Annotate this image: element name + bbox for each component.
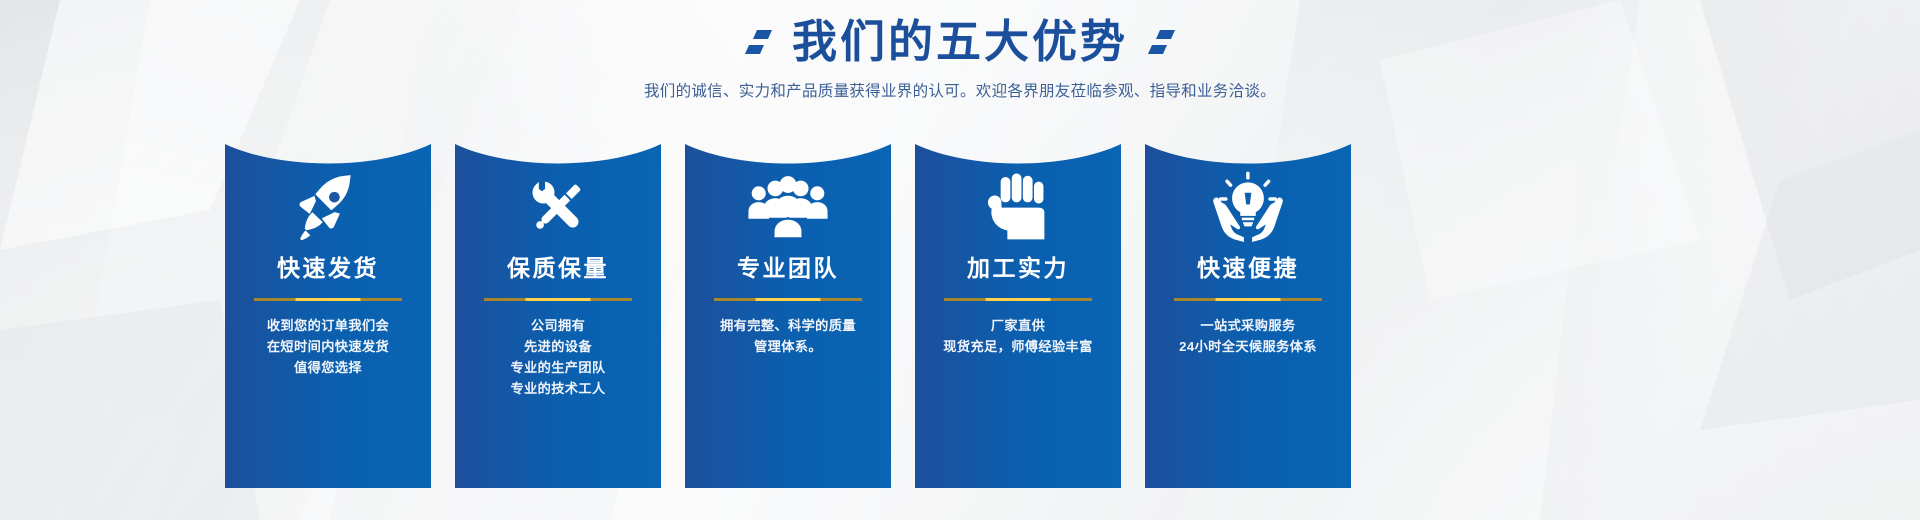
gold-divider <box>1174 298 1322 301</box>
card-title: 加工实力 <box>967 256 1069 281</box>
fist-icon <box>915 140 1121 258</box>
slanted-dashes-icon-right <box>1150 30 1173 54</box>
card-description: 公司拥有 先进的设备 专业的生产团队 专业的技术工人 <box>510 315 605 399</box>
desc-line: 厂家直供 <box>943 315 1092 336</box>
hands-lightbulb-icon <box>1145 140 1351 258</box>
advantage-card-5[interactable]: 快速便捷 一站式采购服务 24小时全天候服务体系 <box>1145 140 1351 488</box>
card-description: 收到您的订单我们会 在短时间内快速发货 值得您选择 <box>267 315 389 378</box>
desc-line: 管理体系。 <box>720 336 856 357</box>
advantage-card-2[interactable]: 保质保量 公司拥有 先进的设备 专业的生产团队 专业的技术工人 <box>455 140 661 488</box>
page-title: 我们的五大优势 <box>792 18 1128 66</box>
gold-divider <box>484 298 632 301</box>
wrench-screwdriver-icon <box>455 140 661 258</box>
card-title: 专业团队 <box>737 256 839 281</box>
desc-line: 专业的技术工人 <box>510 378 605 399</box>
card-title: 快速便捷 <box>1197 256 1299 281</box>
card-description: 厂家直供 现货充足，师傅经验丰富 <box>943 315 1092 357</box>
banner-header: 我们的五大优势 我们的诚信、实力和产品质量获得业界的认可。欢迎各界朋友莅临参观、… <box>0 0 1920 101</box>
desc-line: 拥有完整、科学的质量 <box>720 315 856 336</box>
desc-line: 专业的生产团队 <box>510 357 605 378</box>
card-title: 快速发货 <box>277 256 379 281</box>
gold-divider <box>254 298 402 301</box>
gold-divider <box>714 298 862 301</box>
title-row: 我们的五大优势 <box>0 0 1920 66</box>
desc-line: 公司拥有 <box>510 315 605 336</box>
gold-divider <box>944 298 1092 301</box>
rocket-icon <box>225 140 431 258</box>
advantage-card-3[interactable]: 专业团队 拥有完整、科学的质量 管理体系。 <box>685 140 891 488</box>
advantage-card-list: 快速发货 收到您的订单我们会 在短时间内快速发货 值得您选择 <box>0 140 1920 492</box>
card-description: 一站式采购服务 24小时全天候服务体系 <box>1179 315 1317 357</box>
card-description: 拥有完整、科学的质量 管理体系。 <box>720 315 856 357</box>
page-subtitle: 我们的诚信、实力和产品质量获得业界的认可。欢迎各界朋友莅临参观、指导和业务洽谈。 <box>0 79 1920 101</box>
desc-line: 值得您选择 <box>267 357 389 378</box>
slanted-dashes-icon-left <box>747 30 770 54</box>
team-group-icon <box>685 140 891 258</box>
card-title: 保质保量 <box>507 256 609 281</box>
desc-line: 一站式采购服务 <box>1179 315 1317 336</box>
advantage-card-1[interactable]: 快速发货 收到您的订单我们会 在短时间内快速发货 值得您选择 <box>225 140 431 488</box>
desc-line: 先进的设备 <box>510 336 605 357</box>
desc-line: 收到您的订单我们会 <box>267 315 389 336</box>
desc-line: 24小时全天候服务体系 <box>1179 336 1317 357</box>
desc-line: 现货充足，师傅经验丰富 <box>943 336 1092 357</box>
advantage-card-4[interactable]: 加工实力 厂家直供 现货充足，师傅经验丰富 <box>915 140 1121 488</box>
desc-line: 在短时间内快速发货 <box>267 336 389 357</box>
